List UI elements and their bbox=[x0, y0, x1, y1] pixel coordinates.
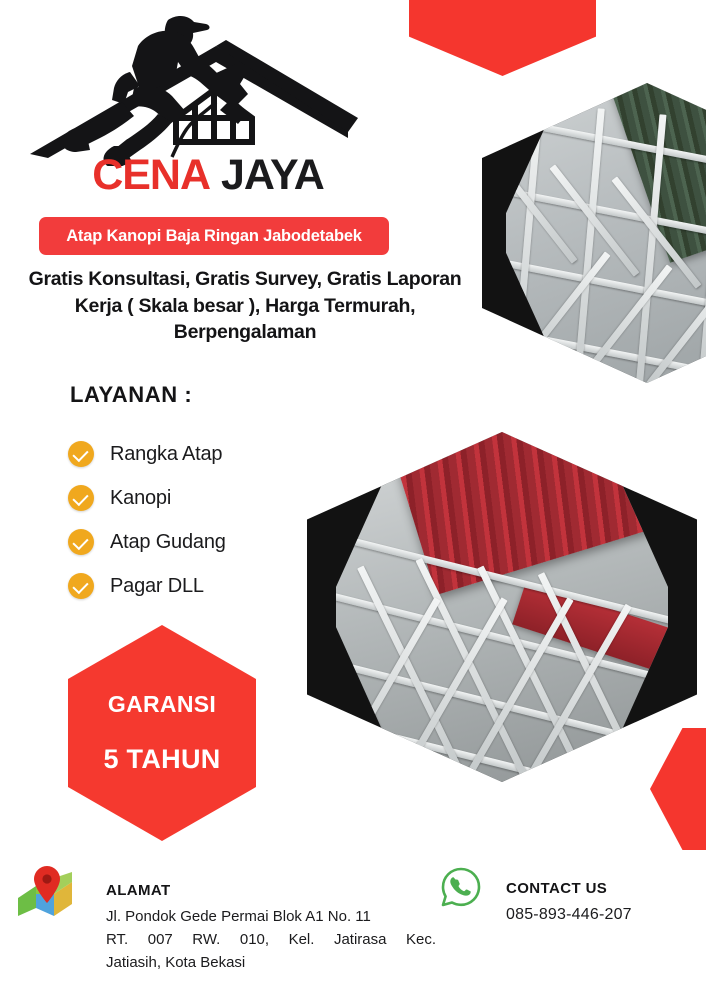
service-label: Kanopi bbox=[110, 487, 171, 510]
check-circle-icon bbox=[68, 573, 94, 599]
address-heading: ALAMAT bbox=[106, 882, 171, 899]
brand-wordmark: CENA JAYA bbox=[18, 154, 398, 197]
warranty-title: GARANSI bbox=[108, 691, 216, 718]
check-circle-icon bbox=[68, 485, 94, 511]
headline-line-3: Berpengalaman bbox=[10, 319, 480, 346]
services-title: LAYANAN : bbox=[70, 382, 192, 408]
services-list: Rangka Atap Kanopi Atap Gudang Pagar DLL bbox=[68, 432, 368, 608]
map-pin-icon bbox=[14, 864, 88, 922]
contact-phone[interactable]: 085-893-446-207 bbox=[506, 906, 632, 924]
service-item: Pagar DLL bbox=[68, 564, 368, 608]
contact-heading: CONTACT US bbox=[506, 880, 607, 897]
whatsapp-icon[interactable] bbox=[438, 864, 484, 910]
flyer-canvas: CENA JAYA Atap Kanopi Baja Ringan Jabode… bbox=[0, 0, 706, 1000]
service-label: Rangka Atap bbox=[110, 443, 222, 466]
service-item: Kanopi bbox=[68, 476, 368, 520]
headline-line-2: Kerja ( Skala besar ), Harga Termurah, bbox=[10, 293, 480, 320]
truss-members bbox=[506, 77, 706, 389]
red-hexagon-decor bbox=[650, 728, 706, 850]
address-line-3: Jatiasih, Kota Bekasi bbox=[106, 952, 436, 975]
red-pentagon-decor bbox=[409, 0, 596, 76]
headline-block: Gratis Konsultasi, Gratis Survey, Gratis… bbox=[10, 266, 480, 346]
check-circle-icon bbox=[68, 441, 94, 467]
brand-tagline-banner: Atap Kanopi Baja Ringan Jabodetabek bbox=[39, 217, 389, 255]
address-line-2: RT. 007 RW. 010, Kel. Jatirasa Kec. bbox=[106, 929, 436, 952]
service-item: Atap Gudang bbox=[68, 520, 368, 564]
footer: ALAMAT Jl. Pondok Gede Permai Blok A1 No… bbox=[0, 858, 706, 1000]
address-line-1: Jl. Pondok Gede Permai Blok A1 No. 11 bbox=[106, 906, 436, 929]
service-label: Pagar DLL bbox=[110, 575, 204, 598]
headline-line-1: Gratis Konsultasi, Gratis Survey, Gratis… bbox=[10, 266, 480, 293]
truss-members bbox=[336, 421, 668, 793]
check-circle-icon bbox=[68, 529, 94, 555]
brand-logo: CENA JAYA Atap Kanopi Baja Ringan Jabode… bbox=[18, 6, 398, 256]
steel-truss-green-roof-photo bbox=[482, 83, 706, 383]
service-label: Atap Gudang bbox=[110, 531, 226, 554]
roofer-worker-house-logo-icon bbox=[18, 6, 398, 166]
warranty-badge: GARANSI 5 TAHUN bbox=[68, 625, 256, 841]
service-item: Rangka Atap bbox=[68, 432, 368, 476]
brand-name-part1: CENA bbox=[92, 151, 210, 199]
address-lines: Jl. Pondok Gede Permai Blok A1 No. 11 RT… bbox=[106, 906, 436, 974]
warranty-duration: 5 TAHUN bbox=[103, 744, 220, 775]
brand-name-part2: JAYA bbox=[221, 151, 324, 199]
